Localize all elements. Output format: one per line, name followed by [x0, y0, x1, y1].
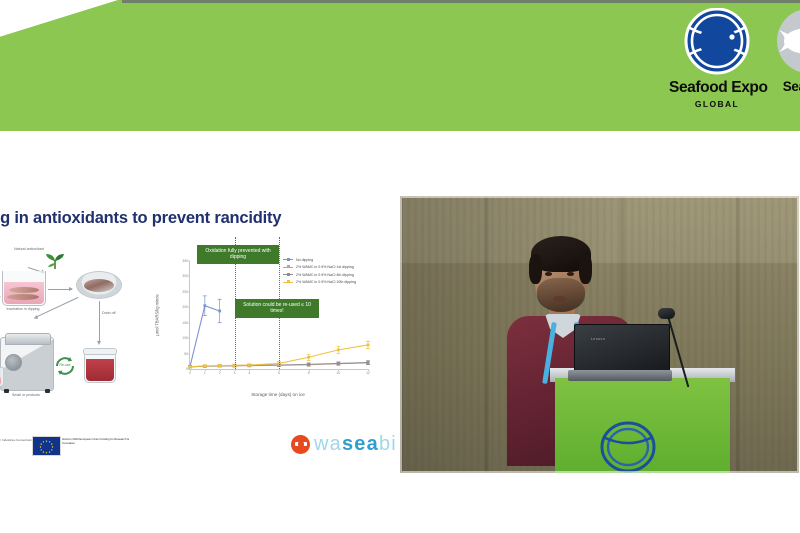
- screenshot-root: Seafood Expo GLOBAL Seafood GL ping in a…: [0, 0, 800, 533]
- label-drain-off: Drain off: [102, 311, 126, 315]
- partner-logo-text: F Industries Consortium: [0, 438, 32, 443]
- chart-x-axis-label: Storage time (days) on ice: [251, 392, 305, 397]
- chart-y-tick-mark: [188, 276, 190, 277]
- laptop: Lenovo: [568, 324, 672, 382]
- logo-wordmark: Seafood Expo: [669, 80, 765, 96]
- slide-footer: F Industries Consortium Horizon 2020 Eur…: [0, 433, 396, 459]
- chart-x-tick-mark: [205, 369, 206, 371]
- waseabi-part-b: sea: [342, 433, 379, 455]
- speaker-eye: [567, 272, 574, 276]
- chart-legend-item: No dipping: [283, 257, 396, 262]
- speaker-eye: [545, 272, 552, 276]
- chart-x-tick-mark: [279, 369, 280, 371]
- chart-x-tick-mark: [249, 369, 250, 371]
- fish-circle-icon: [682, 8, 752, 78]
- label-reuse: Re-use: [54, 363, 76, 367]
- waseabi-part-c: bi: [379, 433, 396, 455]
- chart-legend-label: 2% WAMC in 0.9% NaCl 4th dipping: [296, 273, 354, 277]
- chart-data-point: [367, 361, 370, 364]
- microphone: [658, 308, 728, 386]
- chart-y-tick-mark: [188, 353, 190, 354]
- chart-x-tick-mark: [235, 369, 236, 371]
- chart-legend: No dipping2% WAMC in 0.9% NaCl 1st dippi…: [283, 257, 396, 287]
- laptop-screen: Lenovo: [574, 324, 670, 374]
- chart-y-axis-label: µmol TBARS/kg mince: [155, 294, 160, 335]
- chart-legend-item: 2% WAMC in 0.9% NaCl 1st dipping: [283, 265, 396, 270]
- chart-data-point: [337, 348, 340, 351]
- jar-liquid: [86, 359, 114, 381]
- chart-legend-item: 2% WAMC in 0.9% NaCl 10th dipping: [283, 280, 396, 285]
- chart-data-point: [367, 344, 370, 347]
- fish-outline-icon: [773, 8, 800, 78]
- event-banner: Seafood Expo GLOBAL Seafood GL: [0, 0, 800, 131]
- presentation-slide: ping in antioxidants to prevent rancidit…: [0, 193, 396, 473]
- tbars-line-chart: µmol TBARS/kg mince Storage time (days) …: [163, 251, 395, 413]
- speaker-hair-side: [579, 254, 592, 284]
- speaker-video-panel[interactable]: Lenovo: [400, 196, 799, 473]
- logo-subtitle: GLOBAL: [669, 99, 765, 109]
- chart-x-tick-mark: [338, 369, 339, 371]
- seafood-expo-global-logo: Seafood Expo GLOBAL: [669, 8, 765, 109]
- plant-icon: [44, 253, 66, 269]
- waseabi-project-logo: waseabi: [291, 434, 396, 454]
- logo-subtitle-secondary: GL: [760, 97, 800, 106]
- chart-x-tick-mark: [309, 369, 310, 371]
- chart-data-point: [307, 363, 310, 366]
- label-incubation: Incubation in dipping: [0, 307, 46, 311]
- annotation-solution-reuse: Solution could be re-used ≤ 10 times!: [235, 299, 319, 318]
- seafood-expo-secondary-logo: Seafood GL: [760, 8, 800, 106]
- waseabi-wordmark: waseabi: [314, 434, 396, 454]
- logo-wordmark-secondary: Seafood: [760, 80, 800, 94]
- dipping-beaker: [2, 271, 46, 306]
- beaker-liquid: [4, 282, 44, 304]
- waseabi-part-a: wa: [314, 433, 342, 455]
- label-natural-antioxidant: Natural antioxidant: [14, 247, 44, 251]
- slide-title: ping in antioxidants to prevent rancidit…: [0, 209, 396, 228]
- chart-x-tick-mark: [368, 369, 369, 371]
- fish-in-beaker: [7, 294, 39, 300]
- chart-data-point: [248, 364, 251, 367]
- annotation-oxidation-prevented: Oxidation fully prevented with dipping: [197, 245, 279, 264]
- speaker-mouth: [553, 296, 567, 302]
- jar-lip: [83, 348, 117, 355]
- chart-y-tick-mark: [188, 291, 190, 292]
- chart-data-point: [203, 304, 206, 307]
- podium-fish-circle-icon: [598, 421, 658, 473]
- chart-legend-label: No dipping: [296, 258, 313, 262]
- chart-data-point: [337, 362, 340, 365]
- speaker-beard: [537, 278, 585, 312]
- microphone-arm: [667, 316, 689, 388]
- mincer-machine: [0, 337, 54, 391]
- laptop-brand-label: Lenovo: [591, 337, 605, 341]
- chart-legend-item: 2% WAMC in 0.9% NaCl 4th dipping: [283, 272, 396, 277]
- strainer: [76, 271, 122, 299]
- flow-arrow-drain: [99, 301, 100, 341]
- strainer-contents: [84, 279, 114, 292]
- eu-funding-text: Horizon 2020 European Union funding for …: [62, 437, 132, 445]
- fish-in-beaker: [9, 287, 39, 293]
- waseabi-mark-icon: [291, 435, 310, 454]
- chart-legend-swatch: [283, 280, 293, 285]
- chart-y-tick-mark: [188, 338, 190, 339]
- mincer-drum: [5, 354, 22, 371]
- chart-data-point: [218, 364, 221, 367]
- chart-x-tick-mark: [220, 369, 221, 371]
- minced-product: [0, 376, 1, 385]
- product-tray: [0, 367, 4, 387]
- chart-legend-label: 2% WAMC in 0.9% NaCl 10th dipping: [296, 280, 356, 284]
- chart-legend-swatch: [283, 257, 293, 262]
- chart-legend-swatch: [283, 265, 293, 270]
- label-small-products: Small or products: [0, 393, 54, 397]
- banner-corner-wedge: [0, 0, 122, 38]
- chart-data-point: [218, 310, 221, 313]
- microphone-head: [658, 308, 675, 319]
- chart-x-tick-mark: [190, 369, 191, 371]
- process-diagram: Natural antioxidant Incubation in dippin…: [0, 245, 168, 410]
- mincer-hopper: [5, 333, 51, 345]
- chart-legend-swatch: [283, 272, 293, 277]
- chart-legend-label: 2% WAMC in 0.9% NaCl 1st dipping: [296, 265, 354, 269]
- chart-y-tick-mark: [188, 261, 190, 262]
- chart-y-tick-mark: [188, 322, 190, 323]
- laptop-keyboard-base: [568, 370, 672, 381]
- chart-y-tick-mark: [188, 307, 190, 308]
- chart-data-point: [203, 365, 206, 368]
- collection-jar: [84, 349, 116, 383]
- flow-arrow-to-strainer: [48, 289, 72, 290]
- speaker-hair-side: [529, 254, 542, 284]
- eu-flag-icon: [32, 436, 61, 456]
- chart-data-point: [307, 356, 310, 359]
